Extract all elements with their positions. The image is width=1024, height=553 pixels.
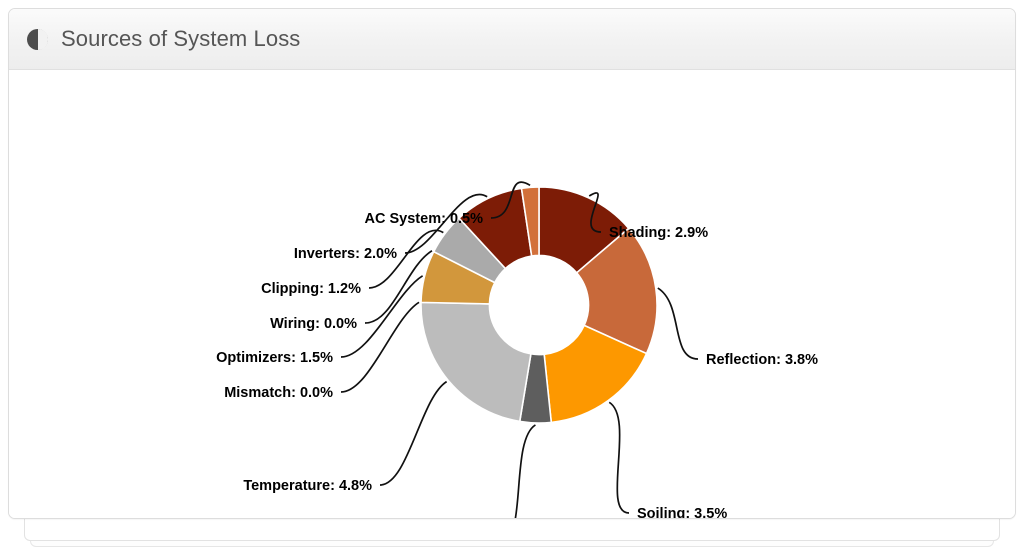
adjust-contrast-icon	[27, 29, 48, 50]
slice-label-ac-system: AC System: 0.5%	[365, 211, 484, 227]
leader-line-reflection	[658, 288, 698, 359]
slice-label-clipping: Clipping: 1.2%	[261, 281, 361, 297]
slice-label-wiring: Wiring: 0.0%	[270, 316, 357, 332]
donut-chart: Shading: 2.9%Reflection: 3.8%Soiling: 3.…	[9, 70, 1015, 518]
slice-label-temperature: Temperature: 4.8%	[243, 478, 372, 494]
slice-label-shading: Shading: 2.9%	[609, 225, 708, 241]
slice-label-inverters: Inverters: 2.0%	[294, 246, 397, 262]
leader-line-temperature	[380, 382, 447, 485]
leader-line-soiling	[609, 402, 629, 513]
page-title: Sources of System Loss	[61, 26, 300, 52]
donut-slice-temperature[interactable]	[421, 302, 531, 421]
slice-label-soiling: Soiling: 3.5%	[637, 506, 727, 519]
donut-chart-svg: Shading: 2.9%Reflection: 3.8%Soiling: 3.…	[9, 70, 1015, 519]
leader-line-irradiance	[500, 425, 535, 519]
slice-label-reflection: Reflection: 3.8%	[706, 352, 818, 368]
panel-sources-of-system-loss: Sources of System Loss Shading: 2.9%Refl…	[8, 8, 1016, 519]
panel-header: Sources of System Loss	[9, 9, 1015, 70]
page-root: Sources of System Loss Shading: 2.9%Refl…	[0, 0, 1024, 553]
slice-label-optimizers: Optimizers: 1.5%	[216, 350, 333, 366]
slice-label-mismatch: Mismatch: 0.0%	[224, 385, 333, 401]
panel-body: Shading: 2.9%Reflection: 3.8%Soiling: 3.…	[9, 70, 1015, 518]
